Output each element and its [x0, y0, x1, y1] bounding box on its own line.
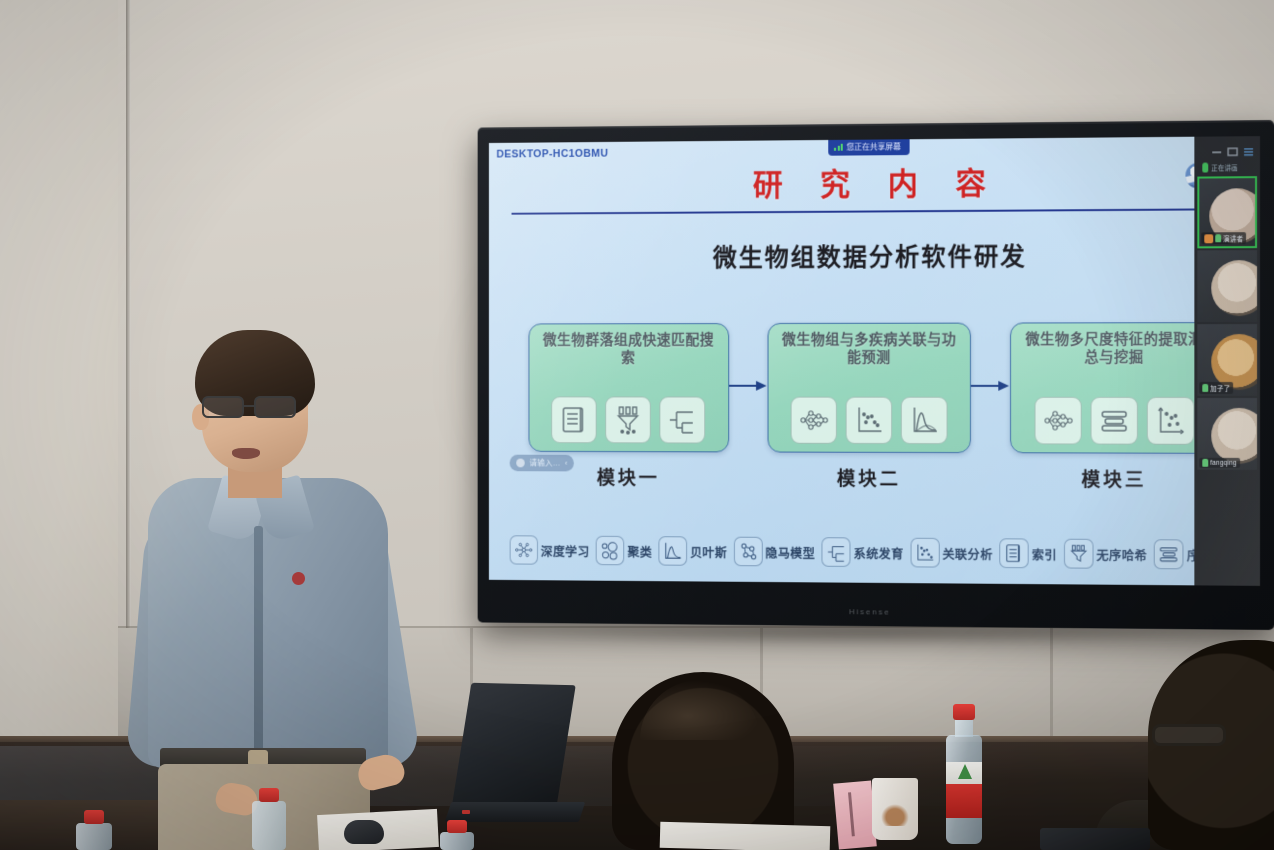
hash-funnel-icon — [1064, 539, 1094, 569]
module-1-text: 微生物群落组成快速匹配搜索 — [537, 333, 720, 368]
water-bottle — [252, 788, 286, 850]
host-computer-label: DESKTOP-HC1OBMU — [496, 148, 608, 161]
laptop-computer[interactable] — [448, 684, 578, 829]
display-brand-label: Hisense — [849, 607, 891, 616]
flow-arrow-2 — [971, 380, 1010, 392]
module-2-icons — [791, 397, 948, 445]
bottle-body — [252, 801, 286, 850]
water-bottle — [944, 704, 984, 844]
method-item: 贝叶斯 — [659, 536, 728, 566]
computer-mouse[interactable] — [344, 820, 384, 844]
participant-name-bar: 演讲者 — [1201, 232, 1246, 244]
module-3-text: 微生物多尺度特征的提取汇总与挖掘 — [1019, 332, 1209, 367]
participant-name: 加子了 — [1210, 383, 1230, 393]
distribution-curve-icon — [901, 397, 948, 444]
participant-name: fangqing — [1210, 459, 1236, 466]
method-label: 聚类 — [627, 541, 652, 560]
menu-icon[interactable] — [1243, 143, 1254, 152]
microphone-icon — [1215, 234, 1221, 242]
slide-subtitle: 微生物组数据分析软件研发 — [489, 236, 1260, 275]
display-screen[interactable]: DESKTOP-HC1OBMU 您正在共享屏幕 研 究 内 容 大学 微生物组数… — [489, 136, 1260, 586]
participant-tile-3[interactable]: 加子了 — [1197, 324, 1257, 396]
module-1-box: 微生物群落组成快速匹配搜索 — [529, 323, 729, 452]
sequence-align-icon — [1154, 539, 1184, 569]
method-label: 隐马模型 — [765, 542, 815, 561]
scatter-plot-icon — [846, 397, 892, 444]
chat-placeholder: 请输入... — [529, 458, 560, 469]
method-item: 深度学习 — [510, 535, 590, 565]
participant-tile-4[interactable]: fangqing — [1197, 398, 1257, 470]
bottle-cap — [259, 788, 279, 802]
presenter-shirt-logo — [292, 572, 305, 585]
phylo-tree-icon — [660, 396, 706, 443]
bottle-label-brand — [946, 784, 982, 818]
module-3-box: 微生物多尺度特征的提取汇总与挖掘 — [1010, 322, 1218, 454]
presentation-slide: DESKTOP-HC1OBMU 您正在共享屏幕 研 究 内 容 大学 微生物组数… — [489, 136, 1260, 586]
method-item: 索引 — [999, 538, 1057, 568]
audience-member-glasses — [1152, 724, 1226, 746]
slide-title: 研 究 内 容 — [489, 156, 1260, 206]
bottle-cap — [447, 820, 467, 833]
microphone-icon — [1202, 459, 1208, 467]
avatar — [1204, 234, 1213, 243]
tv-shadow — [470, 628, 1270, 644]
minimize-icon[interactable] — [1211, 143, 1222, 152]
module-3: 微生物多尺度特征的提取汇总与挖掘 — [1010, 322, 1218, 493]
microphone-icon — [1202, 384, 1208, 392]
participant-video — [1211, 408, 1257, 464]
window-controls[interactable] — [1194, 136, 1260, 159]
stacked-bars-icon — [1090, 397, 1137, 445]
glasses-lens — [202, 396, 244, 418]
deep-learning-icon — [510, 535, 538, 564]
side-wall — [0, 0, 130, 850]
method-item: 关联分析 — [910, 538, 992, 568]
participant-name-bar: fangqing — [1199, 458, 1239, 468]
module-1-label: 模块一 — [597, 464, 660, 491]
cluster-icon — [596, 536, 624, 565]
index-list-icon — [999, 538, 1028, 568]
participant-tile-2[interactable] — [1197, 250, 1257, 322]
bottle-logo-icon — [958, 764, 972, 779]
funnel-filter-icon — [605, 396, 651, 443]
module-2-text: 微生物组与多疾病关联与功能预测 — [776, 332, 963, 367]
document-list-icon — [551, 396, 596, 443]
collapse-caret-icon[interactable]: ‹ — [565, 459, 568, 468]
laptop-power-led — [462, 810, 470, 814]
method-item: 聚类 — [596, 536, 652, 566]
method-label: 无序哈希 — [1096, 544, 1147, 563]
water-bottle — [440, 820, 474, 850]
participant-name: 演讲者 — [1223, 233, 1243, 243]
module-2: 微生物组与多疾病关联与功能预测 — [767, 323, 971, 492]
module-2-label: 模块二 — [837, 465, 901, 492]
method-strip: 深度学习 聚类 — [506, 535, 1242, 569]
participant-tile-1[interactable]: 演讲者 — [1197, 176, 1257, 248]
speaking-status: 正在讲画 — [1194, 158, 1260, 176]
correlation-scatter-icon — [910, 538, 939, 568]
laptop-lid — [452, 683, 576, 808]
presenter-glasses — [198, 396, 314, 418]
module-flow: 微生物群落组成快速匹配搜索 — [529, 322, 1219, 493]
video-conference-rail[interactable]: 正在讲画 演讲者 — [1194, 136, 1260, 586]
screen-share-banner[interactable]: 您正在共享屏幕 — [828, 138, 909, 155]
papers-on-table — [660, 822, 831, 850]
microphone-icon — [1202, 163, 1208, 173]
water-bottle — [76, 810, 112, 850]
module-2-box: 微生物组与多疾病关联与功能预测 — [767, 323, 971, 454]
module-3-label: 模块三 — [1081, 465, 1146, 492]
neural-network-icon — [1034, 397, 1081, 445]
neural-network-icon — [791, 397, 837, 444]
restore-icon[interactable] — [1227, 143, 1238, 152]
name-card — [833, 780, 877, 849]
method-item: 隐马模型 — [734, 537, 815, 567]
hidden-markov-icon — [734, 537, 763, 567]
method-item: 无序哈希 — [1064, 539, 1147, 569]
bottle-neck — [955, 719, 973, 737]
presenter-shirt-placket — [254, 526, 263, 766]
phylo-tree-icon — [822, 537, 851, 567]
glasses-lens — [254, 396, 296, 418]
scatter-axes-icon — [1146, 397, 1194, 445]
share-banner-text: 您正在共享屏幕 — [847, 141, 901, 152]
flow-arrow-1 — [729, 380, 767, 392]
presenter-person — [120, 330, 450, 850]
bottle-body — [440, 832, 474, 850]
signal-icon — [834, 144, 843, 151]
participant-name-bar: 加子了 — [1199, 382, 1233, 394]
method-item: 系统发育 — [822, 537, 904, 567]
method-label: 贝叶斯 — [690, 542, 727, 561]
bayes-curve-icon — [659, 536, 688, 566]
module-3-icons — [1034, 397, 1194, 445]
panel-seam — [1050, 628, 1053, 748]
presenter-mouth — [232, 448, 260, 459]
bottle-cap — [84, 810, 104, 824]
remote-control[interactable] — [1040, 828, 1150, 850]
method-label: 深度学习 — [541, 541, 590, 560]
method-label: 索引 — [1032, 544, 1057, 563]
wall-display[interactable]: Hisense DESKTOP-HC1OBMU 您正在共享屏幕 研 究 内 容 … — [478, 120, 1274, 630]
chat-input-widget[interactable]: 请输入... ‹ — [510, 455, 574, 472]
bottle-body — [76, 823, 112, 850]
avatar-dot-icon — [516, 459, 524, 468]
participant-video — [1211, 260, 1257, 316]
name-card-text — [848, 792, 855, 836]
title-divider — [512, 208, 1237, 214]
paper-cup — [872, 778, 918, 840]
status-text: 正在讲画 — [1211, 162, 1238, 172]
module-1-icons — [551, 396, 705, 443]
method-label: 关联分析 — [942, 543, 992, 562]
method-label: 系统发育 — [854, 543, 904, 562]
conference-room-scene: Hisense DESKTOP-HC1OBMU 您正在共享屏幕 研 究 内 容 … — [0, 0, 1274, 850]
bottle-cap — [953, 704, 975, 720]
